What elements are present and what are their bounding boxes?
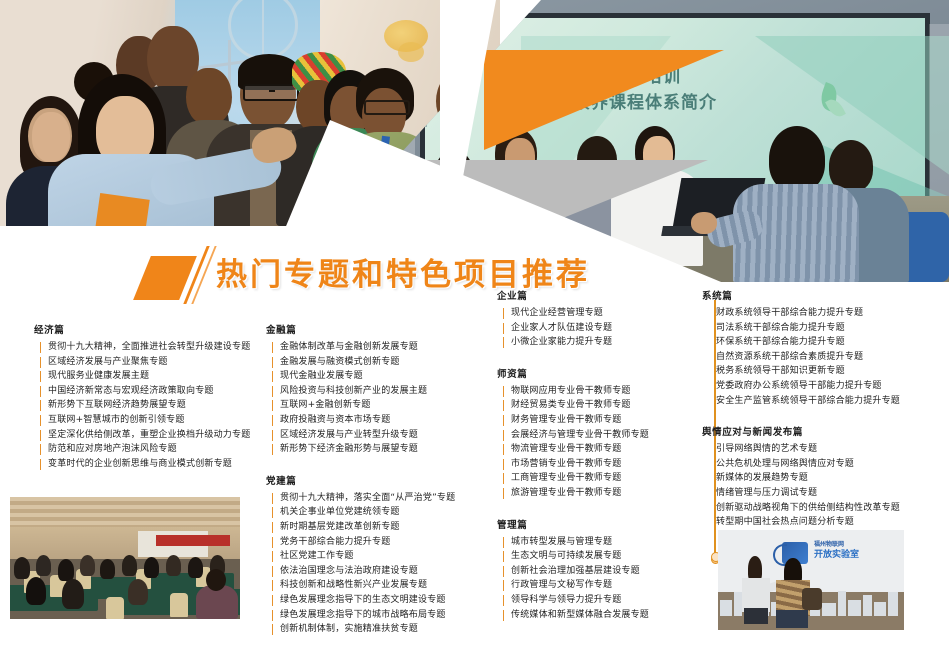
glasses-icon [243, 84, 299, 101]
list-item[interactable]: 现代金融业发展专题 [280, 369, 496, 384]
list-item[interactable]: 政府投融资与资本市场专题 [280, 413, 496, 428]
list-item[interactable]: 生态文明与可持续发展专题 [511, 549, 722, 564]
topic-list: 贯彻十九大精神，全面推进社会转型升级建设专题 区域经济发展与产业聚焦专题 现代服… [34, 340, 274, 471]
topic-list: 金融体制改革与金融创新发展专题 金融发展与融资模式创新专题 现代金融业发展专题 … [266, 340, 496, 457]
list-item[interactable]: 贯彻十九大精神，全面推进社会转型升级建设专题 [48, 340, 274, 355]
list-item[interactable]: 中国经济新常态与宏观经济政策取向专题 [48, 384, 274, 399]
list-item[interactable]: 依法治国理念与法治政府建设专题 [280, 564, 496, 579]
group-title: 系统篇 [702, 288, 947, 302]
hall-red-banner [156, 535, 230, 546]
list-item[interactable]: 行政管理与文秘写作专题 [511, 578, 722, 593]
list-item[interactable]: 坚定深化供给侧改革，重塑企业换档升级动力专题 [48, 428, 274, 443]
decor-blob-2 [398, 42, 424, 62]
person-head [186, 68, 232, 124]
group-public-opinion: 舆情应对与新闻发布篇 引导网络舆情的艺术专题 公共危机处理与网络舆情应对专题 新… [702, 424, 947, 530]
list-item[interactable]: 工商管理专业骨干教师专题 [511, 471, 722, 486]
list-item[interactable]: 引导网络舆情的艺术专题 [716, 442, 947, 457]
topic-list: 物联网应用专业骨干教师专题 财经贸易类专业骨干教师专题 财务管理专业骨干教师专题… [497, 384, 722, 501]
list-item[interactable]: 转型期中国社会热点问题分析专题 [716, 515, 947, 530]
list-item[interactable]: 金融体制改革与金融创新发展专题 [280, 340, 496, 355]
group-finance: 金融篇 金融体制改革与金融创新发展专题 金融发展与融资模式创新专题 现代金融业发… [266, 322, 496, 457]
list-item[interactable]: 金融发展与融资模式创新专题 [280, 355, 496, 370]
list-item[interactable]: 城市转型发展与管理专题 [511, 535, 722, 550]
group-enterprise: 企业篇 现代企业经营管理专题 企业家人才队伍建设专题 小微企业家能力提升专题 [497, 288, 722, 350]
list-item[interactable]: 机关企事业单位党建统领专题 [280, 505, 496, 520]
topic-list: 引导网络舆情的艺术专题 公共危机处理与网络舆情应对专题 新媒体的发展趋势专题 情… [702, 442, 947, 530]
visitor-skirt [744, 608, 768, 624]
group-economy: 经济篇 贯彻十九大精神，全面推进社会转型升级建设专题 区域经济发展与产业聚焦专题… [34, 322, 274, 471]
group-systems: 系统篇 财政系统领导干部综合能力提升专题 司法系统干部综合能力提升专题 环保系统… [702, 288, 947, 408]
list-item[interactable]: 领导科学与领导力提升专题 [511, 593, 722, 608]
group-title: 金融篇 [266, 322, 496, 336]
photo-conference-hall [10, 497, 240, 619]
topic-list: 财政系统领导干部综合能力提升专题 司法系统干部综合能力提升专题 环保系统干部综合… [702, 306, 947, 408]
column-economy: 经济篇 贯彻十九大精神，全面推进社会转型升级建设专题 区域经济发展与产业聚焦专题… [34, 322, 274, 481]
list-item[interactable]: 区域经济发展与产业转型升级专题 [280, 428, 496, 443]
visitor-jeans [776, 610, 808, 628]
logo-line-2: 开放实验室 [814, 550, 859, 560]
iot-lab-logo-text: 福州物联网 开放实验室 [814, 540, 859, 560]
list-item[interactable]: 物流管理专业骨干教师专题 [511, 442, 722, 457]
topic-list: 贯彻十九大精神，落实全面“从严治党”专题 机关企事业单位党建统领专题 新时期基层… [266, 491, 496, 637]
glasses-icon [364, 100, 410, 115]
handbag [802, 588, 822, 610]
hall-ceiling [10, 497, 240, 529]
list-item[interactable]: 市场营销专业骨干教师专题 [511, 457, 722, 472]
list-item[interactable]: 社区党建工作专题 [280, 549, 496, 564]
group-title: 企业篇 [497, 288, 722, 302]
group-title: 经济篇 [34, 322, 274, 336]
group-title: 党建篇 [266, 473, 496, 487]
group-management: 管理篇 城市转型发展与管理专题 生态文明与可持续发展专题 创新社会治理加强基层建… [497, 517, 722, 623]
list-item[interactable]: 环保系统干部综合能力提升专题 [716, 335, 947, 350]
list-item[interactable]: 安全生产监管系统领导干部综合能力提升专题 [716, 394, 947, 409]
column-enterprise-faculty-management: 企业篇 现代企业经营管理专题 企业家人才队伍建设专题 小微企业家能力提升专题 师… [497, 288, 722, 632]
list-item[interactable]: 公共危机处理与网络舆情应对专题 [716, 457, 947, 472]
list-item[interactable]: 互联网+智慧城市的创新引领专题 [48, 413, 274, 428]
smartboard-rail [929, 24, 949, 206]
logo-line-1: 福州物联网 [814, 540, 859, 550]
presenter-head [769, 126, 825, 192]
list-item[interactable]: 党委政府办公系统领导干部能力提升专题 [716, 379, 947, 394]
list-item[interactable]: 企业家人才队伍建设专题 [511, 321, 722, 336]
list-item[interactable]: 旅游管理专业骨干教师专题 [511, 486, 722, 501]
list-item[interactable]: 司法系统干部综合能力提升专题 [716, 321, 947, 336]
list-item[interactable]: 财务管理专业骨干教师专题 [511, 413, 722, 428]
person-face [32, 112, 70, 162]
list-item[interactable]: 科技创新和战略性新兴产业发展专题 [280, 578, 496, 593]
photo-iot-lab: 福州物联网 开放实验室 [718, 530, 904, 630]
list-item[interactable]: 党务干部综合能力提升专题 [280, 535, 496, 550]
list-item[interactable]: 防范和应对房地产泡沫风险专题 [48, 442, 274, 457]
list-item[interactable]: 现代服务业健康发展主题 [48, 369, 274, 384]
list-item[interactable]: 会展经济与管理专业骨干教师专题 [511, 428, 722, 443]
group-faculty: 师资篇 物联网应用专业骨干教师专题 财经贸易类专业骨干教师专题 财务管理专业骨干… [497, 366, 722, 501]
list-item[interactable]: 贯彻十九大精神，落实全面“从严治党”专题 [280, 491, 496, 506]
group-title: 师资篇 [497, 366, 722, 380]
list-item[interactable]: 小微企业家能力提升专题 [511, 335, 722, 350]
topic-list: 城市转型发展与管理专题 生态文明与可持续发展专题 创新社会治理加强基层建设专题 … [497, 535, 722, 623]
column-systems-publicopinion: 系统篇 财政系统领导干部综合能力提升专题 司法系统干部综合能力提升专题 环保系统… [702, 288, 947, 540]
topic-list: 现代企业经营管理专题 企业家人才队伍建设专题 小微企业家能力提升专题 [497, 306, 722, 350]
list-item[interactable]: 创新驱动战略视角下的供给侧结构性改革专题 [716, 501, 947, 516]
list-item[interactable]: 创新机制体制，实施精准扶贫专题 [280, 622, 496, 637]
list-item[interactable]: 财经贸易类专业骨干教师专题 [511, 398, 722, 413]
list-item[interactable]: 区域经济发展与产业聚焦专题 [48, 355, 274, 370]
list-item[interactable]: 新形势下经济金融形势与展望专题 [280, 442, 496, 457]
list-item[interactable]: 物联网应用专业骨干教师专题 [511, 384, 722, 399]
column-finance-party: 金融篇 金融体制改革与金融创新发展专题 金融发展与融资模式创新专题 现代金融业发… [266, 322, 496, 647]
group-title: 舆情应对与新闻发布篇 [702, 424, 947, 438]
list-item[interactable]: 税务系统领导干部知识更新专题 [716, 364, 947, 379]
list-item[interactable]: 新时期基层党建改革创新专题 [280, 520, 496, 535]
hero-photo-collage: 电信培训 素养课程体系简介 [0, 0, 949, 282]
group-party-building: 党建篇 贯彻十九大精神，落实全面“从严治党”专题 机关企事业单位党建统领专题 新… [266, 473, 496, 637]
orange-triangle-accent [484, 50, 724, 150]
list-item[interactable]: 绿色发展理念指导下的城市战略布局专题 [280, 608, 496, 623]
list-item[interactable]: 互联网+金融创新专题 [280, 398, 496, 413]
presenter-hand [691, 212, 717, 234]
list-item[interactable]: 绿色发展理念指导下的生态文明建设专题 [280, 593, 496, 608]
list-item[interactable]: 新形势下互联网经济趋势展望专题 [48, 398, 274, 413]
list-item[interactable]: 新媒体的发展趋势专题 [716, 471, 947, 486]
list-item[interactable]: 传统媒体和新型媒体融合发展专题 [511, 608, 722, 623]
list-item[interactable]: 自然资源系统干部综合素质提升专题 [716, 350, 947, 365]
list-item[interactable]: 情绪管理与压力调试专题 [716, 486, 947, 501]
list-item[interactable]: 现代企业经营管理专题 [511, 306, 722, 321]
group-title: 管理篇 [497, 517, 722, 531]
list-item[interactable]: 财政系统领导干部综合能力提升专题 [716, 306, 947, 321]
list-item[interactable]: 变革时代的企业创新思维与商业模式创新专题 [48, 457, 274, 472]
list-item[interactable]: 创新社会治理加强基层建设专题 [511, 564, 722, 579]
poster-page: 电信培训 素养课程体系简介 [0, 0, 949, 649]
list-item[interactable]: 风险投资与科技创新产业的发展主题 [280, 384, 496, 399]
visitor-body [742, 578, 770, 612]
